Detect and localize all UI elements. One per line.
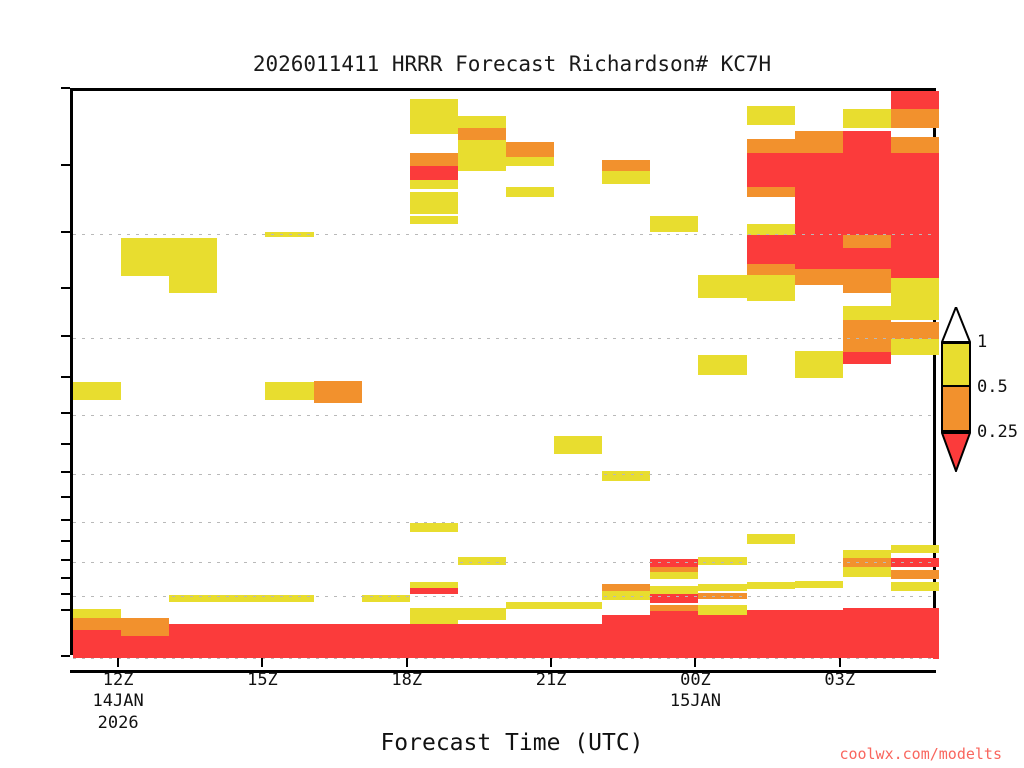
heatmap-cell [650,559,698,567]
y-axis-tick-mark [61,593,70,595]
heatmap-cell [73,618,121,630]
x-axis-tick-mark [117,658,119,667]
colorbar-tick-label: 0.5 [977,377,1008,397]
y-axis-tick-mark [61,577,70,579]
heatmap-cell [843,352,891,363]
heatmap-cell [795,351,843,378]
x-axis-tick-label: 00Z 15JAN [670,670,721,713]
heatmap-cell [410,153,458,167]
heatmap-cell [698,615,746,659]
heatmap-cell [650,611,698,659]
heatmap-cell [314,381,362,403]
heatmap-cell [602,471,650,481]
axis-bottom-line [70,670,936,673]
heatmap-cell [169,276,217,292]
x-axis-tick-mark [406,658,408,667]
x-axis-tick-mark [694,658,696,667]
heatmap-cell [506,624,554,659]
heatmap-cell [843,567,891,577]
heatmap-cell [891,608,939,659]
page-title: 2026011411 HRRR Forecast Richardson# KC7… [0,52,1024,76]
heatmap-cell [795,610,843,659]
heatmap-cell [795,131,843,153]
colorbar-segment [943,387,969,430]
x-axis-tick-label: 12Z 14JAN 2026 [93,670,144,734]
y-axis-tick-mark [61,496,70,498]
gridline [73,234,933,235]
heatmap-cell [410,523,458,532]
y-axis-tick-mark [61,164,70,166]
heatmap-cell [410,216,458,224]
heatmap-cell [843,131,891,235]
heatmap-cell [795,235,843,269]
colorbar-tick-label: 1 [977,332,987,352]
heatmap-cell [891,303,939,320]
heatmap-cell [410,99,458,134]
heatmap-cell [843,109,891,127]
heatmap-cell [265,624,361,659]
colorbar-tick-label: 0.25 [977,422,1018,442]
heatmap-cell [506,157,554,166]
heatmap-cell [410,608,458,624]
heatmap-cell [410,166,458,180]
x-axis-tick-mark [261,658,263,667]
y-axis-tick-mark [61,87,70,89]
heatmap-cell [73,609,121,617]
x-axis-tick-mark [550,658,552,667]
heatmap-cells [73,91,933,655]
heatmap-cell [747,264,795,275]
heatmap-cell [362,624,410,659]
heatmap-cell [554,602,602,609]
colorbar-over-arrow-icon [941,307,971,343]
plot-area[interactable] [70,88,936,655]
heatmap-cell [891,278,939,305]
heatmap-cell [747,153,795,187]
heatmap-cell [73,630,121,659]
heatmap-cell [602,160,650,170]
gridline [73,658,933,659]
heatmap-cell [506,187,554,198]
heatmap-cell [843,248,891,268]
heatmap-cell [458,116,506,128]
heatmap-cell [747,139,795,153]
y-axis-tick-mark [61,471,70,473]
heatmap-cell [410,624,458,659]
heatmap-cell [891,235,939,278]
heatmap-cell [506,602,554,609]
gridline [73,415,933,416]
y-axis-tick-mark [61,559,70,561]
heatmap-cell [795,153,843,235]
heatmap-cell [891,153,939,235]
y-axis-tick-mark [61,655,70,657]
y-axis-tick-mark [61,376,70,378]
gridline [73,596,933,597]
heatmap-cell [410,588,458,594]
heatmap-cell [650,586,698,594]
x-axis-tick-label: 03Z [824,670,855,691]
y-axis-tick-mark [61,412,70,414]
heatmap-cell [843,550,891,558]
x-axis-tick-mark [839,658,841,667]
x-axis-tick-label: 15Z [247,670,278,691]
heatmap-cell [891,582,939,591]
heatmap-cell [747,235,795,264]
source-watermark: coolwx.com/modelts [839,745,1002,763]
heatmap-cell [891,109,939,127]
heatmap-cell [458,557,506,565]
heatmap-cell [698,605,746,615]
y-axis-tick-mark [61,519,70,521]
x-axis-tick-label: 21Z [536,670,567,691]
gridline [73,474,933,475]
y-axis-tick-mark [61,609,70,611]
heatmap-cell [650,216,698,232]
heatmap-cell [410,180,458,189]
colorbar-under-arrow-icon [941,432,971,472]
heatmap-cell [121,636,169,659]
heatmap-cell [698,557,746,565]
heatmap-cell [747,187,795,198]
y-axis-tick-mark [61,287,70,289]
heatmap-cell [698,355,746,375]
colorbar-box [941,342,971,432]
heatmap-cell [747,106,795,124]
heatmap-cell [891,545,939,554]
gridline [73,338,933,339]
y-axis-tick-mark [61,231,70,233]
heatmap-cell [795,269,843,286]
heatmap-cell [410,192,458,213]
heatmap-cell [554,436,602,454]
heatmap-cell [891,339,939,355]
heatmap-cell [843,608,891,659]
heatmap-cell [843,320,891,352]
y-axis-tick-mark [61,540,70,542]
heatmap-cell [121,618,169,636]
gridline [73,562,933,563]
heatmap-cell [795,581,843,588]
heatmap-cell [650,572,698,579]
heatmap-cell [843,269,891,293]
heatmap-cell [843,306,891,319]
heatmap-cell [891,322,939,339]
heatmap-cell [458,128,506,140]
heatmap-cell [121,238,217,276]
heatmap-cell [891,570,939,579]
x-axis-tick-label: 18Z [391,670,422,691]
heatmap-cell [458,608,506,620]
heatmap-cell [698,584,746,591]
heatmap-cell [747,275,795,300]
y-axis-tick-mark [61,335,70,337]
heatmap-cell [747,582,795,589]
heatmap-cell [458,140,506,170]
heatmap-cell [458,624,506,659]
forecast-chart: 2026011411 HRRR Forecast Richardson# KC7… [0,0,1024,768]
gridline [73,522,933,523]
heatmap-cell [73,382,121,400]
heatmap-cell [747,610,795,659]
y-axis-tick-mark [61,443,70,445]
heatmap-cell [554,624,602,659]
heatmap-cell [747,534,795,544]
heatmap-cell [602,615,650,659]
heatmap-cell [891,137,939,152]
colorbar-segment [943,344,969,387]
heatmap-cell [891,91,939,109]
heatmap-cell [602,171,650,184]
heatmap-cell [506,142,554,157]
heatmap-cell [843,235,891,248]
heatmap-cell [698,275,746,297]
